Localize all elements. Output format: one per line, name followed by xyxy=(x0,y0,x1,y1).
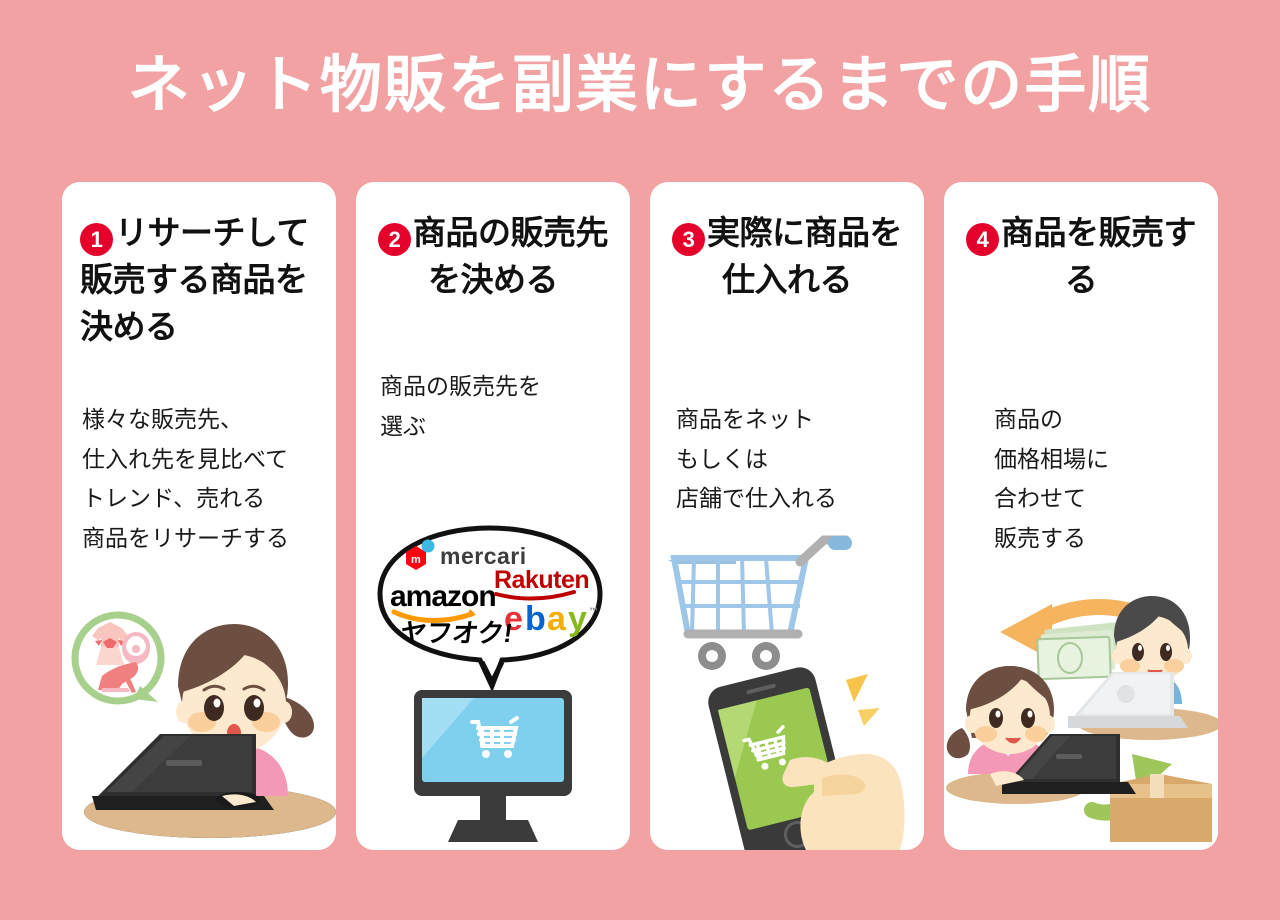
smartphone-with-hand xyxy=(705,664,905,850)
shopping-cart-graphic xyxy=(668,536,852,670)
svg-text:ヤフオク!: ヤフオク! xyxy=(398,618,514,648)
step-1-heading-text: リサーチして販売する商品を決める xyxy=(80,214,309,345)
rakuten-logo: Rakuten xyxy=(494,566,589,599)
step-card-2: 2商品の販売先を決める 商品の販売先を 選ぶ m mercari amazon xyxy=(356,182,630,850)
banknotes xyxy=(1037,622,1120,679)
step-2-number-badge: 2 xyxy=(378,223,411,256)
step-1-body-text: 様々な販売先、 仕入れ先を見比べて トレンド、売れる 商品をリサーチする xyxy=(62,400,336,558)
step-2-heading-text: 商品の販売先を決める xyxy=(413,214,608,298)
svg-text:y: y xyxy=(568,600,587,638)
black-laptop xyxy=(92,734,274,810)
step-4-heading-text: 商品を販売する xyxy=(1001,214,1196,298)
svg-text:b: b xyxy=(525,600,546,638)
step-3-illustration xyxy=(650,534,924,850)
step-1-illustration xyxy=(62,600,336,850)
step-2-body-text: 商品の販売先を 選ぶ xyxy=(356,367,630,446)
svg-text:™: ™ xyxy=(589,606,598,616)
step-3-number-badge: 3 xyxy=(672,223,705,256)
svg-text:a: a xyxy=(547,600,567,638)
step-3-heading-text: 実際に商品を仕入れる xyxy=(707,214,902,298)
product-thought-bubble xyxy=(75,615,161,702)
step-2-heading: 2商品の販売先を決める xyxy=(356,210,630,304)
step-4-heading: 4商品を販売する xyxy=(944,210,1218,304)
step-4-number-badge: 4 xyxy=(966,223,999,256)
svg-text:Rakuten: Rakuten xyxy=(494,566,589,594)
svg-text:m: m xyxy=(411,554,421,566)
step-card-1: 1リサーチして販売する商品を決める 様々な販売先、 仕入れ先を見比べて トレンド… xyxy=(62,182,336,850)
ebay-logo: e b a y ™ xyxy=(504,600,598,638)
page-title: ネット物販を副業にするまでの手順 xyxy=(0,52,1280,120)
step-1-heading: 1リサーチして販売する商品を決める xyxy=(62,210,336,351)
steps-card-strip: 1リサーチして販売する商品を決める 様々な販売先、 仕入れ先を見比べて トレンド… xyxy=(62,182,1218,850)
yahuoku-logo: ヤフオク! xyxy=(398,618,514,648)
step-4-body-text: 商品の 価格相場に 合わせて 販売する xyxy=(944,400,1218,558)
desktop-monitor xyxy=(414,690,572,842)
step-card-4: 4商品を販売する 商品の 価格相場に 合わせて 販売する xyxy=(944,182,1218,850)
step-2-illustration xyxy=(356,660,630,850)
step-1-number-badge: 1 xyxy=(80,223,113,256)
step-card-3: 3実際に商品を仕入れる 商品をネット もしくは 店舗で仕入れる xyxy=(650,182,924,850)
step-3-body-text: 商品をネット もしくは 店舗で仕入れる xyxy=(650,400,924,519)
svg-text:amazon: amazon xyxy=(390,580,496,613)
step-4-illustration xyxy=(944,588,1218,850)
step-3-heading: 3実際に商品を仕入れる xyxy=(650,210,924,304)
